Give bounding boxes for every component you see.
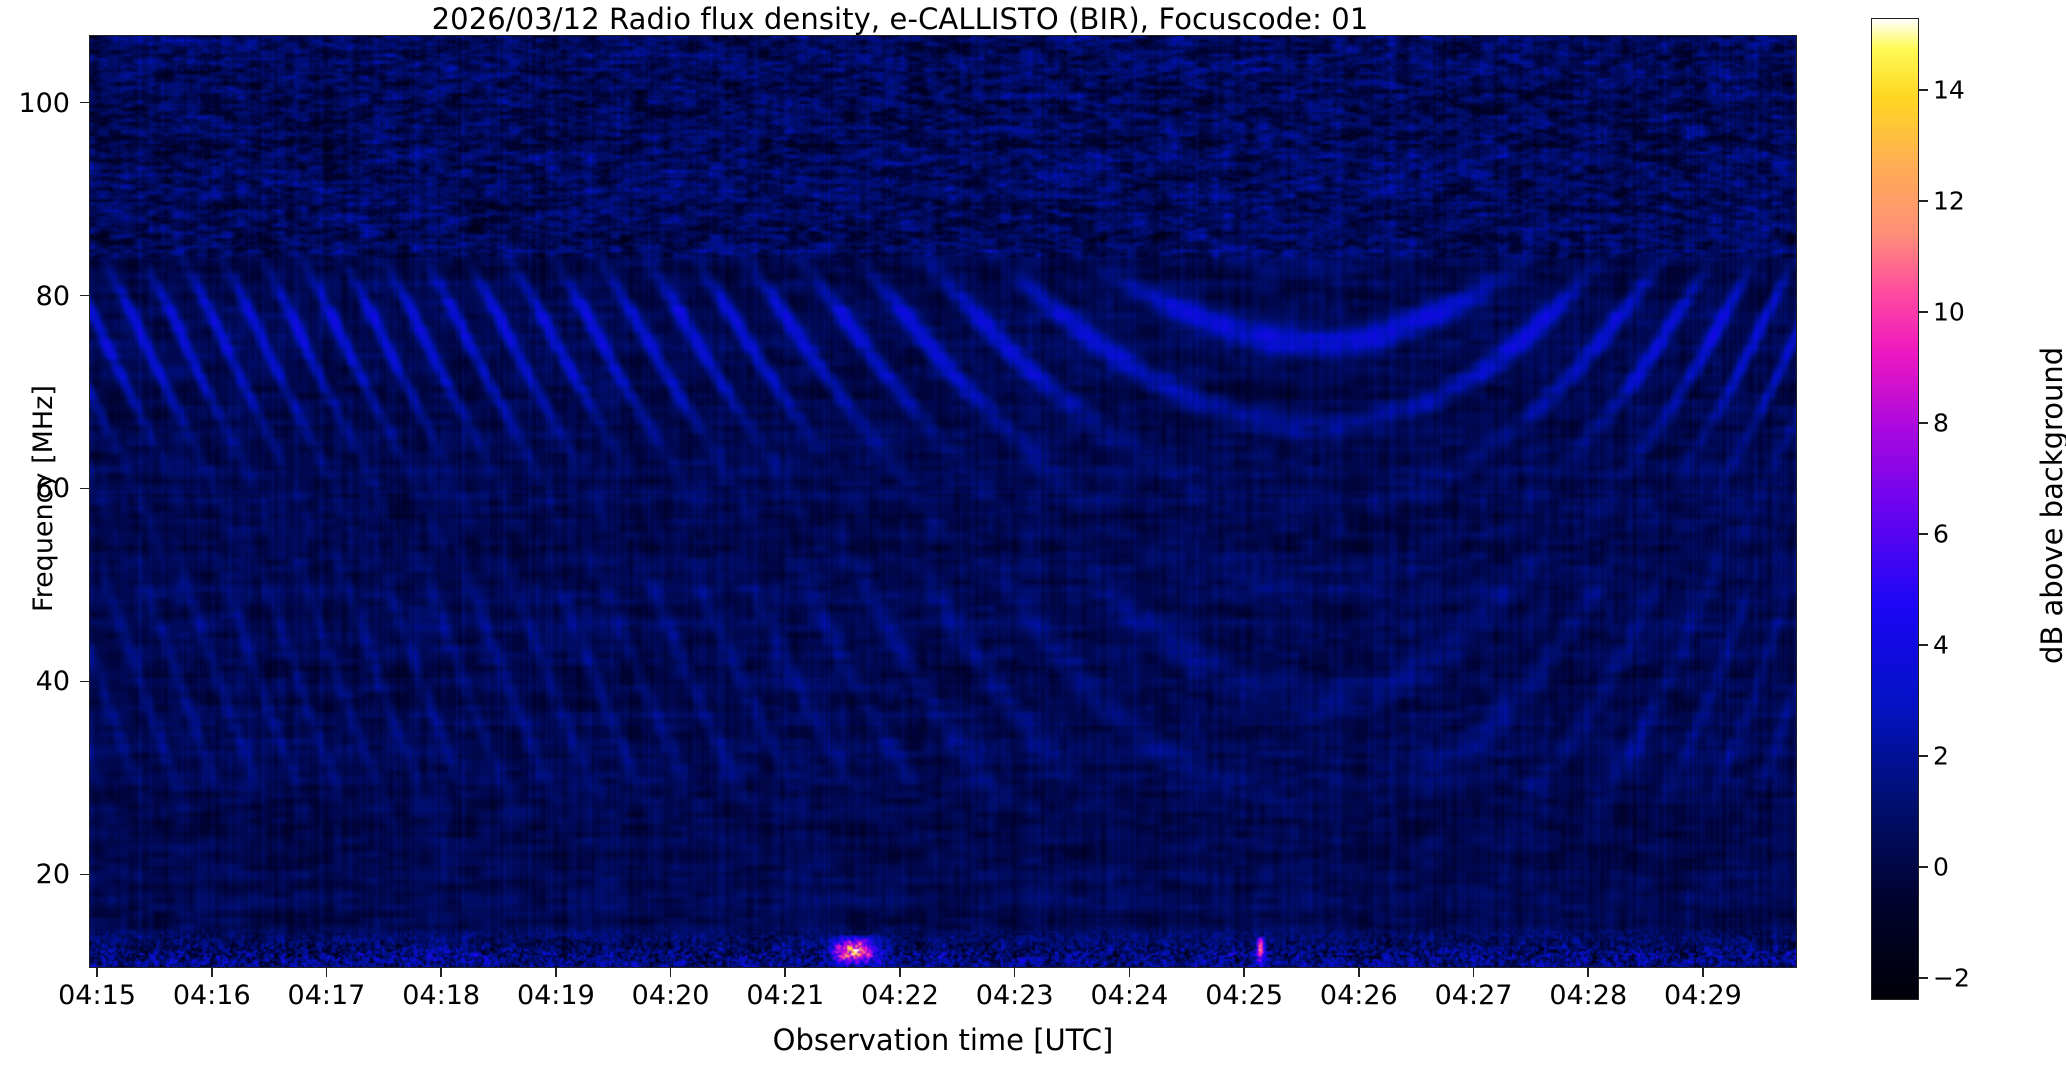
y-tick-mark [80,488,89,490]
colorbar-tick-label: 10 [1933,300,1965,325]
x-tick-mark [1702,968,1704,977]
y-tick-mark [80,681,89,683]
colorbar-tick-label: 8 [1933,411,1949,436]
x-tick-mark [440,968,442,977]
colorbar-tick-mark [1919,977,1928,979]
colorbar-tick-mark [1919,644,1928,646]
x-tick-label: 04:16 [173,982,251,1009]
x-tick-mark [211,968,213,977]
y-tick-mark [80,102,89,104]
colorbar-tick-label: 12 [1933,189,1965,214]
x-tick-label: 04:24 [1090,982,1168,1009]
x-tick-label: 04:29 [1664,982,1742,1009]
x-tick-mark [670,968,672,977]
x-tick-mark [1014,968,1016,977]
spectrogram-image-wrapper [90,36,1796,967]
x-tick-label: 04:23 [976,982,1054,1009]
x-tick-mark [1473,968,1475,977]
x-tick-label: 04:20 [632,982,710,1009]
x-tick-label: 04:27 [1435,982,1513,1009]
colorbar-tick-label: 4 [1933,632,1949,657]
x-tick-mark [1129,968,1131,977]
colorbar-tick-mark [1919,533,1928,535]
x-tick-label: 04:18 [402,982,480,1009]
x-tick-label: 04:22 [861,982,939,1009]
spectrogram-plot-area [89,35,1797,968]
x-tick-label: 04:19 [517,982,595,1009]
colorbar-gradient [1872,19,1918,999]
colorbar-tick-mark [1919,866,1928,868]
y-tick-label: 60 [6,475,70,502]
y-tick-label: 100 [6,90,70,117]
colorbar-tick-mark [1919,755,1928,757]
x-tick-label: 04:26 [1320,982,1398,1009]
x-tick-label: 04:28 [1549,982,1627,1009]
x-tick-mark [555,968,557,977]
spectrogram-figure: 2026/03/12 Radio flux density, e-CALLIST… [0,0,2066,1067]
spectrogram-image [90,36,1796,967]
y-tick-label: 40 [6,668,70,695]
x-tick-mark [899,968,901,977]
colorbar-tick-mark [1919,89,1928,91]
x-axis-label: Observation time [UTC] [89,1023,1797,1057]
x-tick-mark [1243,968,1245,977]
y-tick-label: 20 [6,861,70,888]
colorbar-tick-mark [1919,422,1928,424]
x-tick-mark [96,968,98,977]
colorbar-tick-label: 2 [1933,743,1949,768]
y-tick-mark [80,874,89,876]
x-tick-label: 04:17 [288,982,366,1009]
x-tick-mark [784,968,786,977]
colorbar-tick-mark [1919,311,1928,313]
colorbar [1871,18,1919,1000]
x-tick-label: 04:21 [746,982,824,1009]
x-tick-label: 04:25 [1205,982,1283,1009]
x-tick-label: 04:15 [58,982,136,1009]
y-tick-mark [80,295,89,297]
colorbar-tick-label: 0 [1933,854,1949,879]
x-tick-mark [1358,968,1360,977]
colorbar-label: dB above background [2035,347,2066,664]
x-tick-mark [1587,968,1589,977]
colorbar-tick-mark [1919,200,1928,202]
page-title: 2026/03/12 Radio flux density, e-CALLIST… [0,2,1800,36]
x-tick-mark [326,968,328,977]
colorbar-tick-label: −2 [1933,965,1970,990]
y-tick-label: 80 [6,283,70,310]
colorbar-tick-label: 14 [1933,78,1965,103]
colorbar-tick-label: 6 [1933,521,1949,546]
